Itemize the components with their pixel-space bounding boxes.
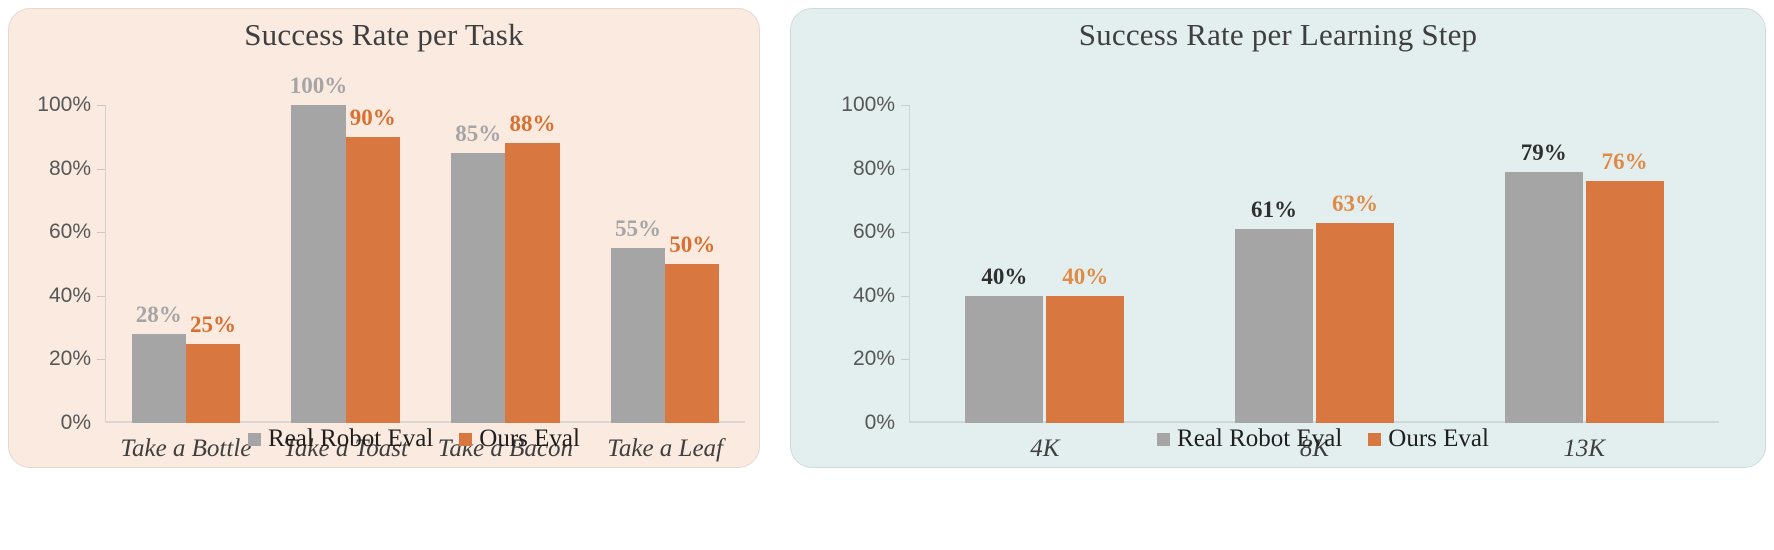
bar-value-label: 100%	[290, 73, 348, 99]
y-tick-label: 20%	[49, 347, 91, 371]
y-tick-label: 60%	[49, 220, 91, 244]
y-tick-label: 100%	[37, 93, 91, 117]
legend-learning-step: Real Robot Eval Ours Eval	[791, 425, 1765, 453]
y-tick-label: 100%	[841, 93, 895, 117]
bar-slot: 79%	[1503, 105, 1584, 423]
bar-real-robot-eval[interactable]	[1505, 172, 1583, 423]
bar-value-label: 79%	[1521, 140, 1567, 166]
bar-ours-eval[interactable]	[1586, 181, 1664, 423]
bar-slot: 40%	[964, 105, 1045, 423]
bar-ours-eval[interactable]	[186, 344, 240, 424]
chart-panel-success-rate-per-learning-step: Success Rate per Learning Step 100%80%60…	[790, 8, 1766, 468]
y-tick-mark	[97, 169, 105, 170]
bar-slot: 50%	[665, 105, 719, 423]
y-tick-label: 40%	[853, 284, 895, 308]
bar-real-robot-eval[interactable]	[132, 334, 186, 423]
bar-value-label: 88%	[510, 111, 556, 137]
bar-ours-eval[interactable]	[1046, 296, 1124, 423]
bar-value-label: 63%	[1332, 191, 1378, 217]
y-tick-mark	[97, 359, 105, 360]
legend-swatch-icon-ours-eval	[459, 433, 472, 446]
bar-value-label: 40%	[981, 264, 1027, 290]
bar-real-robot-eval[interactable]	[291, 105, 345, 423]
bar-value-label: 50%	[669, 232, 715, 258]
y-tick-mark	[901, 232, 909, 233]
legend-item-real-robot-eval[interactable]: Real Robot Eval	[1157, 425, 1342, 453]
bar-group: 85%88%Take a Bacon	[426, 105, 586, 423]
legend-label-ours-eval: Ours Eval	[479, 425, 580, 453]
bar-group: 100%90%Take a Toast	[266, 105, 426, 423]
chart-title-task: Success Rate per Task	[9, 17, 759, 53]
plot-area-task: 100%80%60%40%20%0% 28%25%Take a Bottle10…	[105, 105, 745, 423]
bar-ours-eval[interactable]	[665, 264, 719, 423]
bar-slot: 28%	[132, 105, 186, 423]
y-tick-mark	[901, 296, 909, 297]
y-tick-label: 60%	[853, 220, 895, 244]
bar-slot: 55%	[611, 105, 665, 423]
y-tick-mark	[901, 105, 909, 106]
bar-slot: 63%	[1315, 105, 1396, 423]
legend-item-real-robot-eval[interactable]: Real Robot Eval	[248, 425, 433, 453]
legend-swatch-icon-real-robot-eval	[248, 433, 261, 446]
bar-group: 28%25%Take a Bottle	[106, 105, 266, 423]
y-tick-mark	[901, 169, 909, 170]
bar-real-robot-eval[interactable]	[451, 153, 505, 423]
figure-root: Success Rate per Task 100%80%60%40%20%0%…	[0, 0, 1774, 550]
y-tick-label: 80%	[853, 157, 895, 181]
bar-value-label: 85%	[455, 121, 501, 147]
chart-title-learning-step: Success Rate per Learning Step	[791, 17, 1765, 53]
bar-groups-learning-step: 40%40%4K61%63%8K79%76%13K	[910, 105, 1719, 423]
bar-group: 79%76%13K	[1449, 105, 1719, 423]
bar-value-label: 28%	[136, 302, 182, 328]
bar-slot: 40%	[1045, 105, 1126, 423]
legend-swatch-icon-ours-eval	[1368, 433, 1381, 446]
bar-ours-eval[interactable]	[346, 137, 400, 423]
plot-area-learning-step: 100%80%60%40%20%0% 40%40%4K61%63%8K79%76…	[909, 105, 1719, 423]
bar-value-label: 55%	[615, 216, 661, 242]
y-tick-label: 40%	[49, 284, 91, 308]
legend-item-ours-eval[interactable]: Ours Eval	[459, 425, 580, 453]
bar-ours-eval[interactable]	[1316, 223, 1394, 423]
bar-slot: 88%	[505, 105, 559, 423]
bar-real-robot-eval[interactable]	[611, 248, 665, 423]
bar-real-robot-eval[interactable]	[1235, 229, 1313, 423]
y-tick-mark	[97, 105, 105, 106]
y-tick-label: 80%	[49, 157, 91, 181]
bar-value-label: 61%	[1251, 197, 1297, 223]
bar-value-label: 90%	[350, 105, 396, 131]
bar-slot: 76%	[1584, 105, 1665, 423]
bar-slot: 100%	[291, 105, 345, 423]
bar-slot: 61%	[1234, 105, 1315, 423]
bar-value-label: 76%	[1602, 149, 1648, 175]
bar-value-label: 40%	[1062, 264, 1108, 290]
y-tick-mark	[97, 296, 105, 297]
bar-value-label: 25%	[190, 312, 236, 338]
bar-slot: 25%	[186, 105, 240, 423]
y-tick-mark	[901, 359, 909, 360]
bar-group: 40%40%4K	[910, 105, 1180, 423]
chart-panel-success-rate-per-task: Success Rate per Task 100%80%60%40%20%0%…	[8, 8, 760, 468]
bar-slot: 85%	[451, 105, 505, 423]
y-tick-label: 20%	[853, 347, 895, 371]
bar-group: 55%50%Take a Leaf	[585, 105, 745, 423]
legend-item-ours-eval[interactable]: Ours Eval	[1368, 425, 1489, 453]
legend-label-real-robot-eval: Real Robot Eval	[1177, 425, 1342, 453]
y-tick-mark	[97, 232, 105, 233]
bar-ours-eval[interactable]	[505, 143, 559, 423]
legend-swatch-icon-real-robot-eval	[1157, 433, 1170, 446]
legend-label-real-robot-eval: Real Robot Eval	[268, 425, 433, 453]
legend-label-ours-eval: Ours Eval	[1388, 425, 1489, 453]
bar-slot: 90%	[346, 105, 400, 423]
bar-real-robot-eval[interactable]	[965, 296, 1043, 423]
legend-task: Real Robot Eval Ours Eval	[9, 425, 759, 453]
bar-group: 61%63%8K	[1180, 105, 1450, 423]
bar-groups-task: 28%25%Take a Bottle100%90%Take a Toast85…	[106, 105, 745, 423]
